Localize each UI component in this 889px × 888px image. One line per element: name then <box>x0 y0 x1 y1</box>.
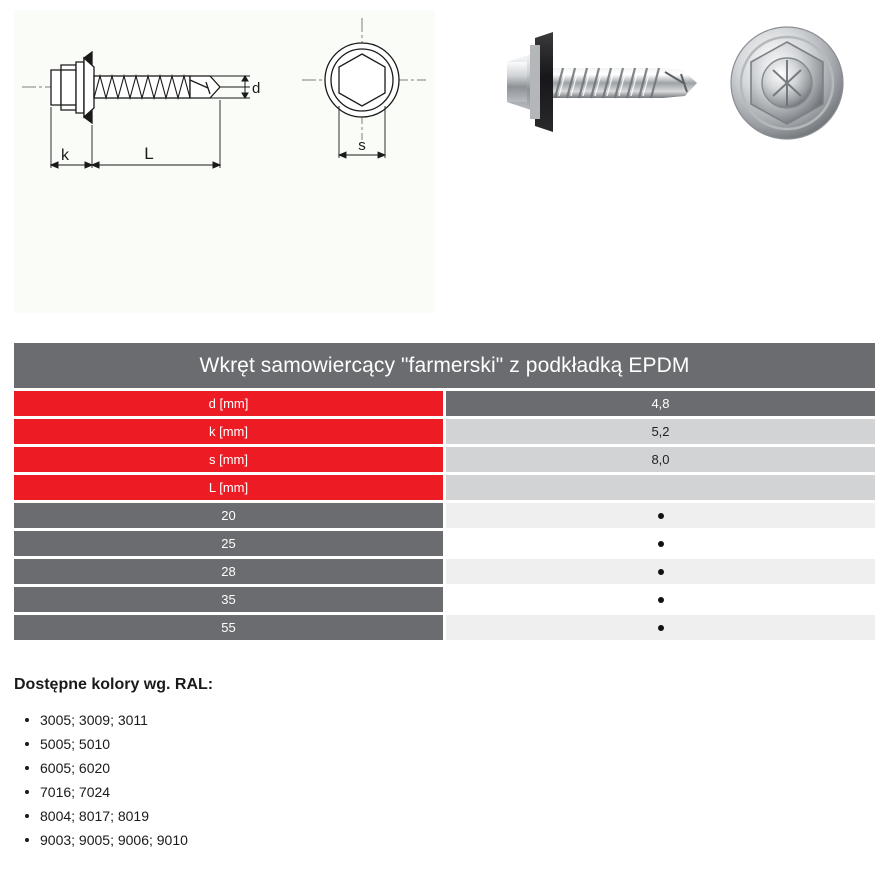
spec-label-d: d [mm] <box>14 391 443 416</box>
dimension-label-k: k <box>61 147 70 164</box>
length-availability-20 <box>446 503 875 528</box>
availability-dot-icon <box>658 569 664 575</box>
table-row: s [mm] 8,0 <box>14 447 875 472</box>
list-item: 7016; 7024 <box>14 780 514 804</box>
spec-label-s: s [mm] <box>14 447 443 472</box>
table-row: 28 <box>14 559 875 584</box>
list-item: 5005; 5010 <box>14 732 514 756</box>
spec-value-s: 8,0 <box>446 447 875 472</box>
length-label-35: 35 <box>14 587 443 612</box>
technical-drawing-svg: d k <box>14 10 435 313</box>
dimension-label-d: d <box>252 80 260 97</box>
ral-color-list: 3005; 3009; 3011 5005; 5010 6005; 6020 7… <box>14 708 514 852</box>
screw-photo-top <box>731 27 843 139</box>
list-item: 6005; 6020 <box>14 756 514 780</box>
spec-label-k: k [mm] <box>14 419 443 444</box>
technical-drawing-panel: d k <box>14 10 435 313</box>
table-title-row: Wkręt samowiercący "farmerski" z podkład… <box>14 343 875 388</box>
ral-colors-section: Dostępne kolory wg. RAL: 3005; 3009; 301… <box>14 676 514 852</box>
length-label-28: 28 <box>14 559 443 584</box>
product-photo-panel <box>435 10 889 313</box>
availability-dot-icon <box>658 597 664 603</box>
length-label-20: 20 <box>14 503 443 528</box>
table-row: 35 <box>14 587 875 612</box>
length-availability-35 <box>446 587 875 612</box>
table-row: 55 <box>14 615 875 640</box>
spec-label-L: L [mm] <box>14 475 443 500</box>
dimension-label-s: s <box>358 137 366 154</box>
length-availability-55 <box>446 615 875 640</box>
ral-heading: Dostępne kolory wg. RAL: <box>14 676 514 694</box>
product-media-strip: d k <box>0 0 889 320</box>
length-availability-25 <box>446 531 875 556</box>
product-photo-svg <box>435 10 889 313</box>
dimension-label-L: L <box>144 144 153 163</box>
length-label-55: 55 <box>14 615 443 640</box>
list-item: 8004; 8017; 8019 <box>14 804 514 828</box>
list-item: 3005; 3009; 3011 <box>14 708 514 732</box>
length-availability-28 <box>446 559 875 584</box>
availability-dot-icon <box>658 541 664 547</box>
specification-table: Wkręt samowiercący "farmerski" z podkład… <box>14 343 875 643</box>
availability-dot-icon <box>658 625 664 631</box>
availability-dot-icon <box>658 513 664 519</box>
table-row: k [mm] 5,2 <box>14 419 875 444</box>
list-item: 9003; 9005; 9006; 9010 <box>14 828 514 852</box>
spec-value-k: 5,2 <box>446 419 875 444</box>
spec-value-L <box>446 475 875 500</box>
product-title: Wkręt samowiercący "farmerski" z podkład… <box>14 343 875 388</box>
table-row: 25 <box>14 531 875 556</box>
spec-value-d: 4,8 <box>446 391 875 416</box>
table-row: d [mm] 4,8 <box>14 391 875 416</box>
table-row: L [mm] <box>14 475 875 500</box>
length-label-25: 25 <box>14 531 443 556</box>
table-row: 20 <box>14 503 875 528</box>
